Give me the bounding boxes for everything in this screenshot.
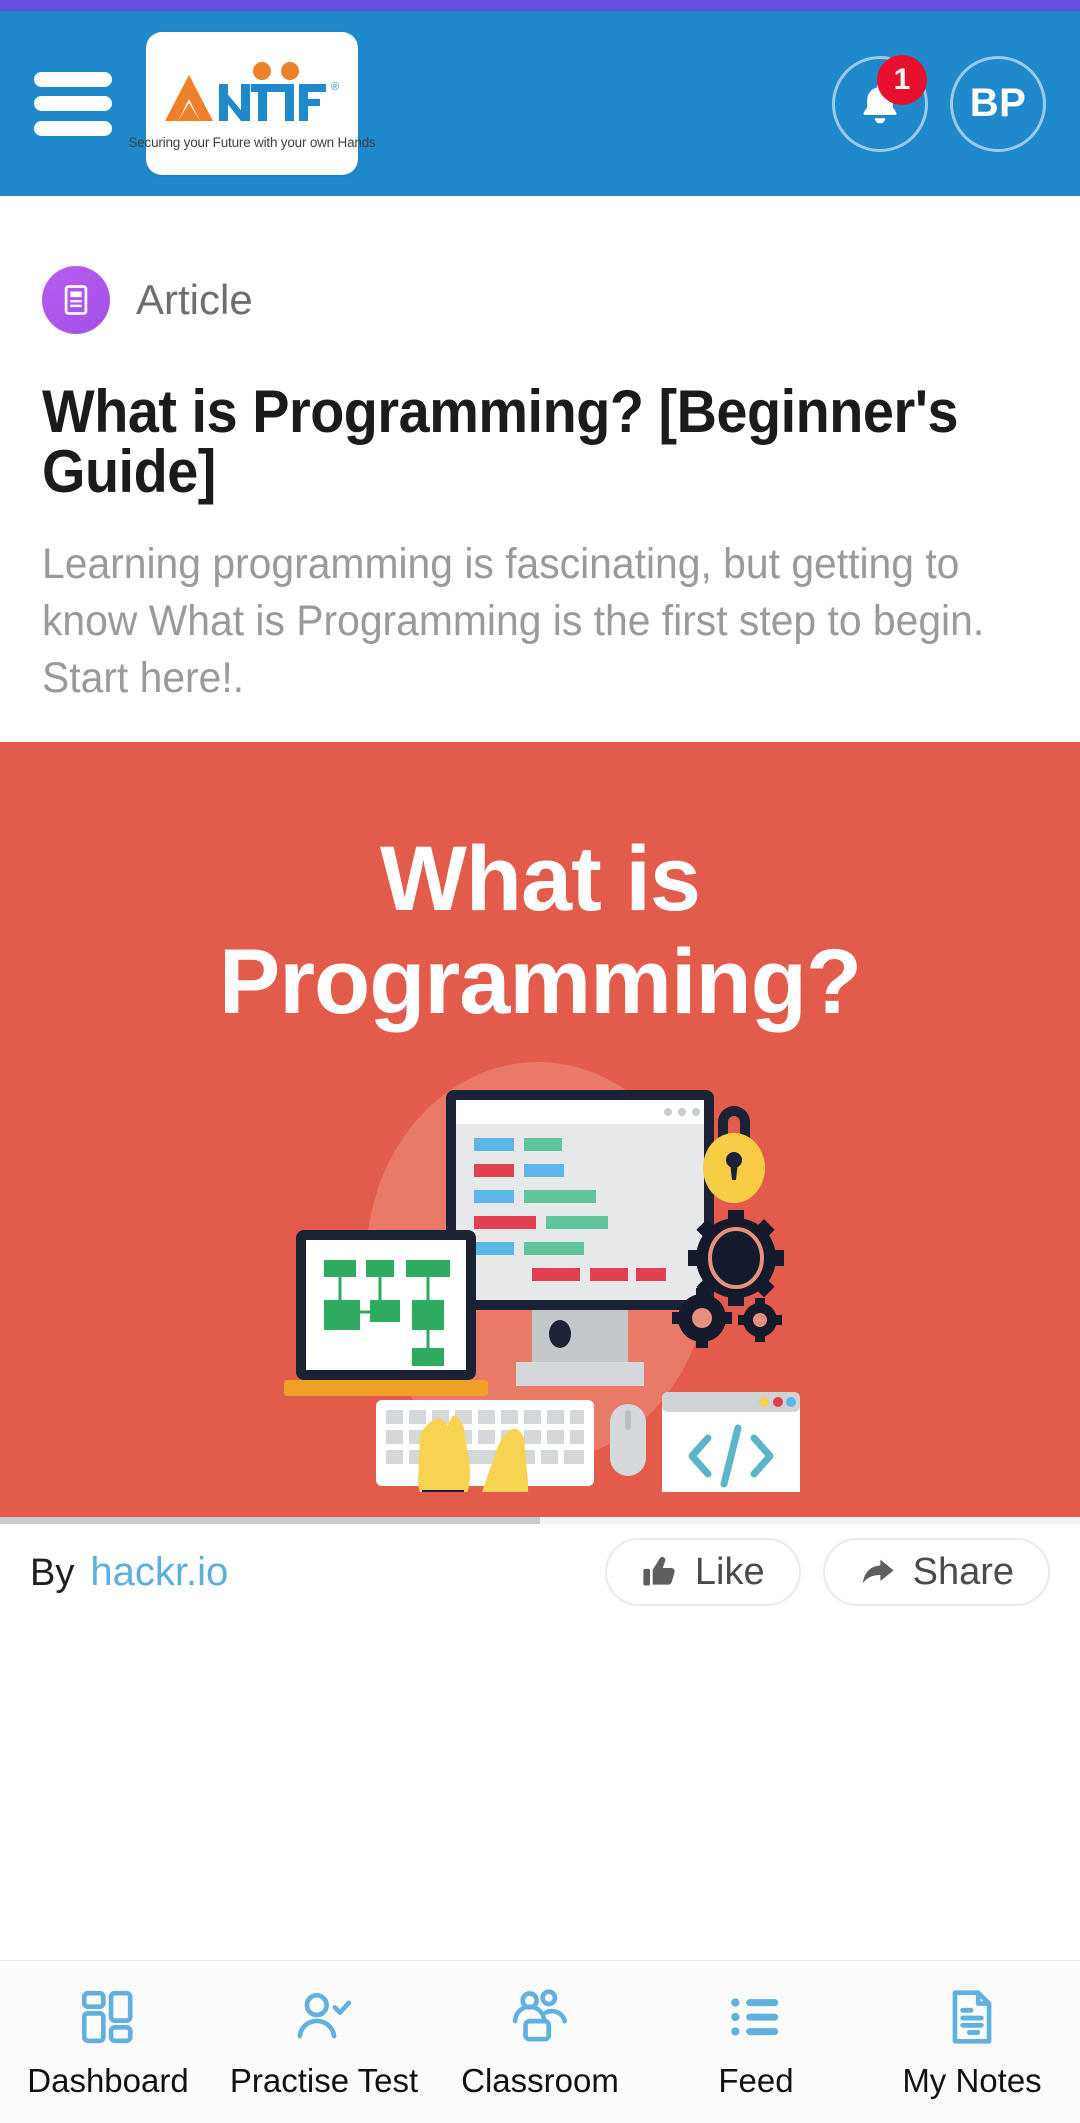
nav-label-dashboard: Dashboard xyxy=(27,2062,188,2100)
article-type-label: Article xyxy=(136,276,253,324)
programming-workspace-illustration xyxy=(270,1062,810,1492)
article-icon xyxy=(42,266,110,334)
nav-label-classroom: Classroom xyxy=(461,2062,619,2100)
status-bar xyxy=(0,0,1080,11)
page-title: What is Programming? [Beginner's Guide] xyxy=(42,382,968,502)
header-actions: 1 BP xyxy=(832,56,1046,152)
svg-text:®: ® xyxy=(331,81,339,93)
nttf-logo-svg: ® xyxy=(159,59,345,131)
article-header: Article What is Programming? [Beginner's… xyxy=(0,196,1080,706)
hero-illustration xyxy=(0,1062,1080,1512)
group-icon xyxy=(509,1984,571,2050)
avatar[interactable]: BP xyxy=(950,56,1046,152)
like-button[interactable]: Like xyxy=(605,1538,801,1606)
nav-item-my-notes[interactable]: My Notes xyxy=(864,1961,1080,2123)
user-check-icon xyxy=(293,1984,355,2050)
bottom-navigation: Dashboard Practise Test xyxy=(0,1960,1080,2123)
hero-headline-line1: What is xyxy=(0,828,1080,931)
app-screen: ® Securing your Future with your own Han… xyxy=(0,0,1080,2123)
scrollbar-thumb[interactable] xyxy=(0,1517,540,1524)
notifications-button[interactable]: 1 xyxy=(832,56,928,152)
article-description: Learning programming is fascinating, but… xyxy=(42,536,988,706)
hamburger-menu-icon[interactable] xyxy=(34,72,112,136)
notification-badge: 1 xyxy=(877,55,927,105)
horizontal-scrollbar[interactable] xyxy=(0,1517,1080,1524)
nav-item-dashboard[interactable]: Dashboard xyxy=(0,1961,216,2123)
nttf-logo-mark: ® xyxy=(159,57,345,131)
nttf-logo-tagline: Securing your Future with your own Hands xyxy=(128,135,375,150)
article-type-row: Article xyxy=(42,196,1038,334)
byline-source-link[interactable]: hackr.io xyxy=(90,1550,228,1595)
article-hero-image[interactable]: What is Programming? xyxy=(0,742,1080,1517)
nav-item-classroom[interactable]: Classroom xyxy=(432,1961,648,2123)
nav-item-feed[interactable]: Feed xyxy=(648,1961,864,2123)
nav-label-my-notes: My Notes xyxy=(902,2062,1041,2100)
app-header: ® Securing your Future with your own Han… xyxy=(0,11,1080,196)
nttf-logo[interactable]: ® Securing your Future with your own Han… xyxy=(146,32,358,175)
byline-prefix: By xyxy=(30,1552,74,1595)
list-icon xyxy=(725,1984,787,2050)
nav-item-practise-test[interactable]: Practise Test xyxy=(216,1961,432,2123)
hero-headline: What is Programming? xyxy=(0,828,1080,1034)
byline: By hackr.io xyxy=(30,1550,228,1595)
hamburger-bar xyxy=(34,121,112,136)
thumbs-up-icon xyxy=(641,1553,679,1591)
hamburger-bar xyxy=(34,96,112,111)
article-actions: Like Share xyxy=(605,1538,1050,1606)
share-button[interactable]: Share xyxy=(823,1538,1050,1606)
nav-label-practise-test: Practise Test xyxy=(230,2062,418,2100)
avatar-initials: BP xyxy=(970,81,1027,126)
article-footer: By hackr.io Like Share xyxy=(0,1524,1080,1620)
share-label: Share xyxy=(913,1551,1014,1594)
hamburger-bar xyxy=(34,72,112,87)
document-icon xyxy=(941,1984,1003,2050)
nav-label-feed: Feed xyxy=(718,2062,793,2100)
share-arrow-icon xyxy=(859,1553,897,1591)
document-badge-icon xyxy=(59,283,93,317)
grid-icon xyxy=(77,1984,139,2050)
hero-headline-line2: Programming? xyxy=(0,931,1080,1034)
like-label: Like xyxy=(695,1551,765,1594)
